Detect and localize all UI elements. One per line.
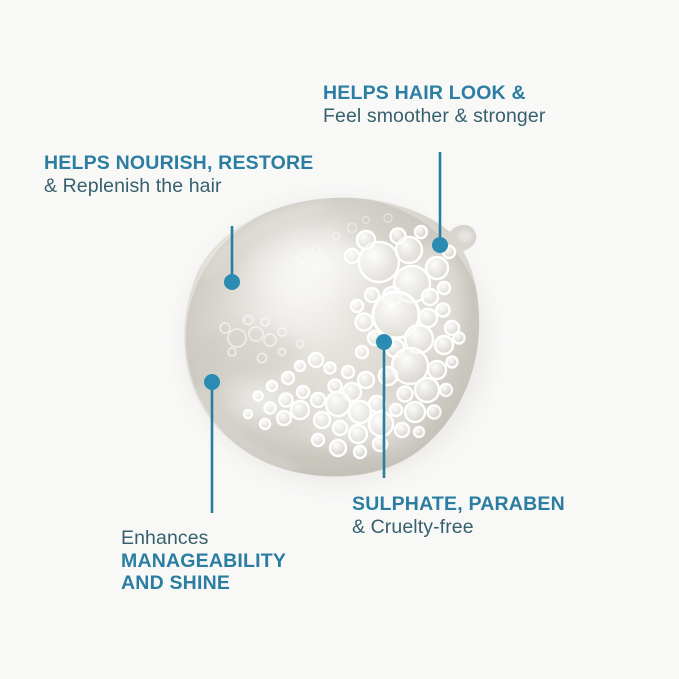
- callout-subline: & Replenish the hair: [44, 175, 314, 198]
- callout-headline: HELPS NOURISH, RESTORE: [44, 152, 314, 175]
- callout-subline: Feel smoother & stronger: [323, 105, 545, 128]
- callout-headline: SULPHATE, PARABEN: [352, 493, 565, 516]
- callout-headline: HELPS HAIR LOOK &: [323, 82, 545, 105]
- callout-helps-hair-look: HELPS HAIR LOOK & Feel smoother & strong…: [323, 82, 545, 127]
- callout-headline: MANAGEABILITY: [121, 550, 286, 573]
- infographic-canvas: HELPS HAIR LOOK & Feel smoother & strong…: [0, 0, 679, 679]
- leader-line-helps-hair-look: [432, 152, 448, 253]
- leader-line-enhances-manageability: [204, 374, 220, 513]
- callout-helps-nourish-restore: HELPS NOURISH, RESTORE & Replenish the h…: [44, 152, 314, 197]
- leader-line-helps-nourish-restore: [224, 226, 240, 290]
- leader-line-sulphate-paraben: [376, 334, 392, 478]
- callout-headline-second-line: AND SHINE: [121, 572, 286, 595]
- leader-dot[interactable]: [204, 374, 220, 390]
- leader-dot[interactable]: [432, 237, 448, 253]
- callout-subline: & Cruelty-free: [352, 516, 565, 539]
- callout-enhances-manageability: Enhances MANAGEABILITY AND SHINE: [121, 527, 286, 595]
- leader-dot[interactable]: [224, 274, 240, 290]
- callout-subline: Enhances: [121, 527, 286, 550]
- callout-sulphate-paraben: SULPHATE, PARABEN & Cruelty-free: [352, 493, 565, 538]
- leader-dot[interactable]: [376, 334, 392, 350]
